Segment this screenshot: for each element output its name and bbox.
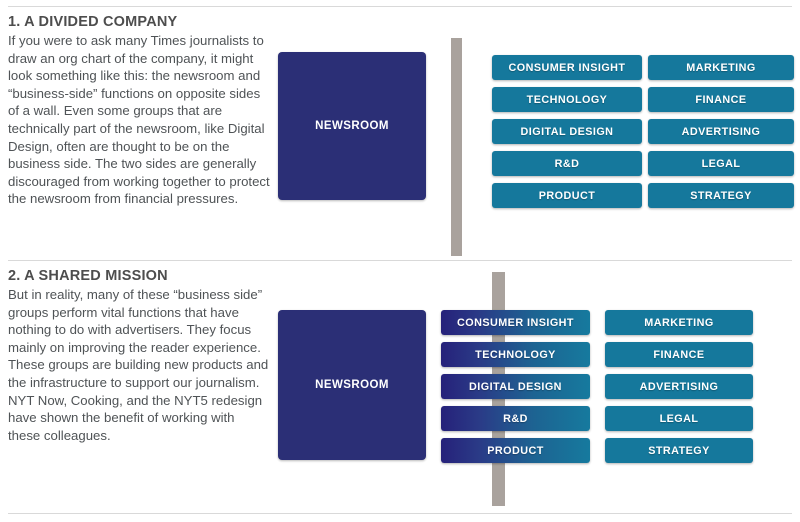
department-button[interactable]: STRATEGY [648, 183, 794, 208]
department-button[interactable]: MARKETING [648, 55, 794, 80]
section-2-title: 2. A SHARED MISSION [8, 268, 270, 284]
department-button[interactable]: R&D [492, 151, 642, 176]
newsroom-block[interactable]: NEWSROOM [278, 310, 426, 460]
section-2-body: But in reality, many of these “business … [8, 286, 270, 444]
department-button[interactable]: ADVERTISING [605, 374, 753, 399]
department-button[interactable]: LEGAL [605, 406, 753, 431]
section-2-text: 2. A SHARED MISSION But in reality, many… [8, 268, 270, 444]
section-1-right-department-column: MARKETING FINANCE ADVERTISING LEGAL STRA… [648, 55, 794, 208]
department-button[interactable]: LEGAL [648, 151, 794, 176]
department-button[interactable]: TECHNOLOGY [492, 87, 642, 112]
department-button[interactable]: ADVERTISING [648, 119, 794, 144]
department-button[interactable]: DIGITAL DESIGN [441, 374, 590, 399]
diagram-page: 1. A DIVIDED COMPANY If you were to ask … [0, 0, 800, 522]
department-button[interactable]: PRODUCT [441, 438, 590, 463]
section-1-body: If you were to ask many Times journalist… [8, 32, 270, 208]
department-button[interactable]: DIGITAL DESIGN [492, 119, 642, 144]
department-button[interactable]: R&D [441, 406, 590, 431]
section-shared-mission: 2. A SHARED MISSION But in reality, many… [0, 268, 800, 513]
department-button[interactable]: FINANCE [648, 87, 794, 112]
divider-middle [8, 260, 792, 261]
wall-divider-icon [451, 38, 462, 256]
section-1-text: 1. A DIVIDED COMPANY If you were to ask … [8, 14, 270, 208]
department-button[interactable]: FINANCE [605, 342, 753, 367]
department-button[interactable]: TECHNOLOGY [441, 342, 590, 367]
section-2-left-department-column: CONSUMER INSIGHT TECHNOLOGY DIGITAL DESI… [441, 310, 590, 463]
divider-bottom [8, 513, 792, 514]
department-button[interactable]: CONSUMER INSIGHT [492, 55, 642, 80]
newsroom-block[interactable]: NEWSROOM [278, 52, 426, 200]
department-button[interactable]: STRATEGY [605, 438, 753, 463]
section-1-title: 1. A DIVIDED COMPANY [8, 14, 270, 30]
section-divided-company: 1. A DIVIDED COMPANY If you were to ask … [0, 14, 800, 260]
divider-top [8, 6, 792, 7]
department-button[interactable]: MARKETING [605, 310, 753, 335]
department-button[interactable]: CONSUMER INSIGHT [441, 310, 590, 335]
section-2-right-department-column: MARKETING FINANCE ADVERTISING LEGAL STRA… [605, 310, 753, 463]
section-1-left-department-column: CONSUMER INSIGHT TECHNOLOGY DIGITAL DESI… [492, 55, 642, 208]
department-button[interactable]: PRODUCT [492, 183, 642, 208]
